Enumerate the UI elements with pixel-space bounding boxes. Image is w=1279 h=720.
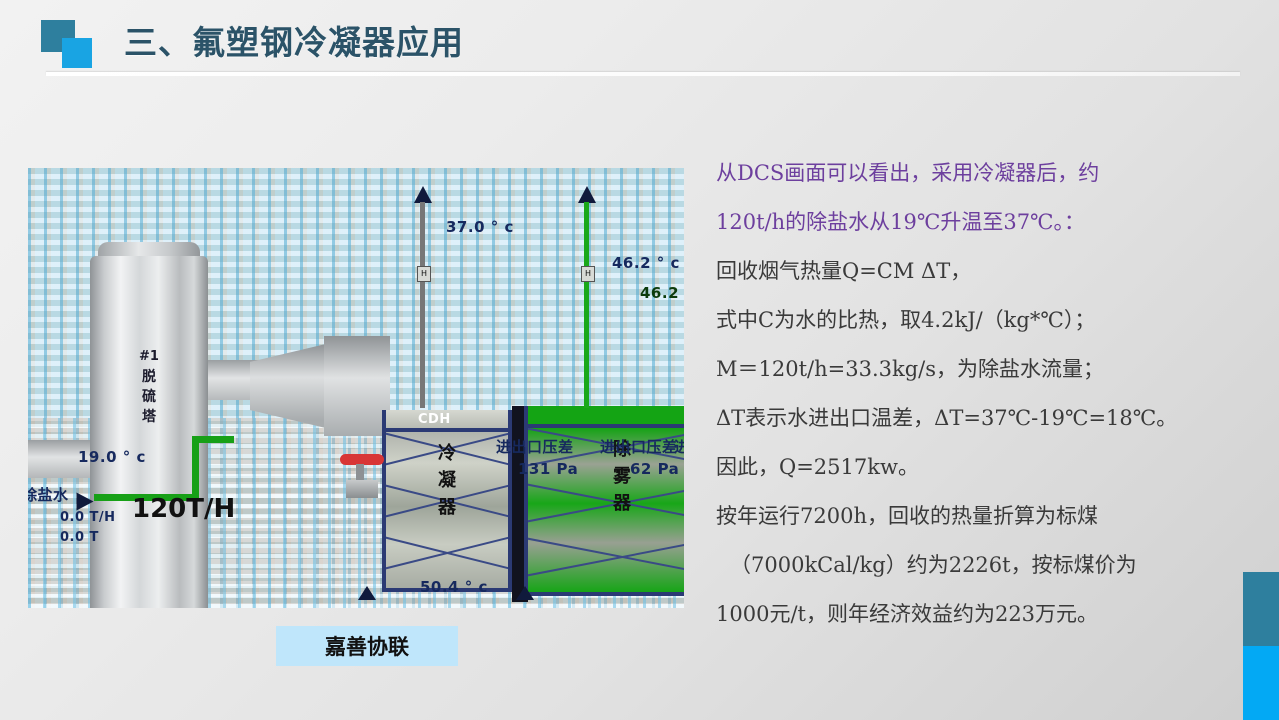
- body-line-10: 1000元/t，则年经济效益约为223万元。: [716, 593, 1236, 636]
- demin-water-label: 除盐水: [28, 484, 69, 505]
- header-divider: [46, 72, 1240, 76]
- flow-rate-zero: 0.0 T/H: [60, 510, 116, 525]
- water-arrow-icon: [77, 493, 94, 511]
- temp-outlet-right: 46.2 ° c: [612, 254, 680, 272]
- duct-straight: [324, 336, 390, 436]
- body-line-9: （7000kCal/kg）约为2226t，按标煤价为: [716, 544, 1236, 587]
- outlet-badge-right: H: [581, 266, 595, 282]
- flow-total-zero: 0.0 T: [60, 530, 99, 545]
- body-line-3: 回收烟气热量Q=CM ΔT，: [716, 250, 1236, 293]
- temp-water-in: 19.0 ° c: [78, 448, 146, 466]
- outlet-badge-left: H: [417, 266, 431, 282]
- body-text-block: 从DCS画面可以看出，采用冷凝器后，约 120t/h的除盐水从19℃升温至37℃…: [716, 152, 1236, 642]
- accent-bar-top: [1243, 572, 1279, 646]
- body-line-8: 按年运行7200h，回收的热量折算为标煤: [716, 495, 1236, 538]
- condenser-char-3: 器: [386, 494, 508, 521]
- body-line-6: ΔT表示水进出口温差，ΔT=37℃-19℃=18℃。: [716, 397, 1236, 440]
- dcs-screenshot-image: #1 脱 硫 塔 冷 凝 器: [28, 168, 684, 608]
- flow-rate-annotation: 120T/H: [132, 494, 235, 524]
- tower-name-char-2: 硫: [124, 387, 174, 407]
- dp-label-3: 进: [674, 436, 684, 457]
- outlet-stem-right: [584, 202, 589, 408]
- header-square-bright-icon: [62, 38, 92, 68]
- temp-outlet-left: 37.0 ° c: [446, 218, 514, 236]
- tower-name-char-1: 脱: [124, 367, 174, 387]
- accent-bar-bottom: [1243, 646, 1279, 720]
- cdh-label: CDH: [418, 412, 451, 427]
- outlet-arrow-left-icon: [414, 186, 432, 203]
- dp-value-2: 62 Pa: [630, 460, 679, 478]
- bottom-arrow-2-icon: [516, 586, 534, 600]
- image-caption: 嘉善协联: [276, 626, 458, 666]
- tower-tag: #1: [124, 348, 174, 367]
- body-line-1: 从DCS画面可以看出，采用冷凝器后，约: [716, 152, 1236, 195]
- condenser-char-1: 冷: [386, 440, 508, 467]
- body-line-2: 120t/h的除盐水从19℃升温至37℃。：: [716, 201, 1236, 244]
- dp-label-1: 进出口压差: [496, 436, 574, 457]
- dp-value-1: 131 Pa: [518, 460, 578, 478]
- outlet-stem-left: [420, 202, 425, 408]
- body-line-5: M＝120t/h=33.3kg/s，为除盐水流量；: [716, 348, 1236, 391]
- temp-condenser-in: 50.4 ° c: [420, 578, 488, 596]
- condenser-unit: 冷 凝 器: [382, 428, 512, 592]
- page-title: 三、氟塑钢冷凝器应用: [124, 16, 464, 64]
- condenser-char-2: 凝: [386, 467, 508, 494]
- body-line-4: 式中C为水的比热，取4.2kJ/（kg*℃）；: [716, 299, 1236, 342]
- water-pipe-top: [192, 436, 234, 443]
- temp-right-inline: 46.2: [640, 284, 679, 302]
- bottom-arrow-1-icon: [358, 586, 376, 600]
- water-pipe-v: [192, 438, 199, 500]
- slide-root: 三、氟塑钢冷凝器应用 #1 脱 硫 塔: [0, 0, 1279, 720]
- outlet-arrow-right-icon: [578, 186, 596, 203]
- body-line-7: 因此，Q=2517kw。: [716, 446, 1236, 489]
- dp-label-2: 进出口压差: [600, 436, 678, 457]
- tower-name-char-3: 塔: [124, 407, 174, 427]
- absorber-tower: [90, 256, 208, 608]
- condenser-label: 冷 凝 器: [386, 440, 508, 521]
- tower-label: #1 脱 硫 塔: [124, 348, 174, 428]
- demister-char-3: 器: [528, 490, 684, 517]
